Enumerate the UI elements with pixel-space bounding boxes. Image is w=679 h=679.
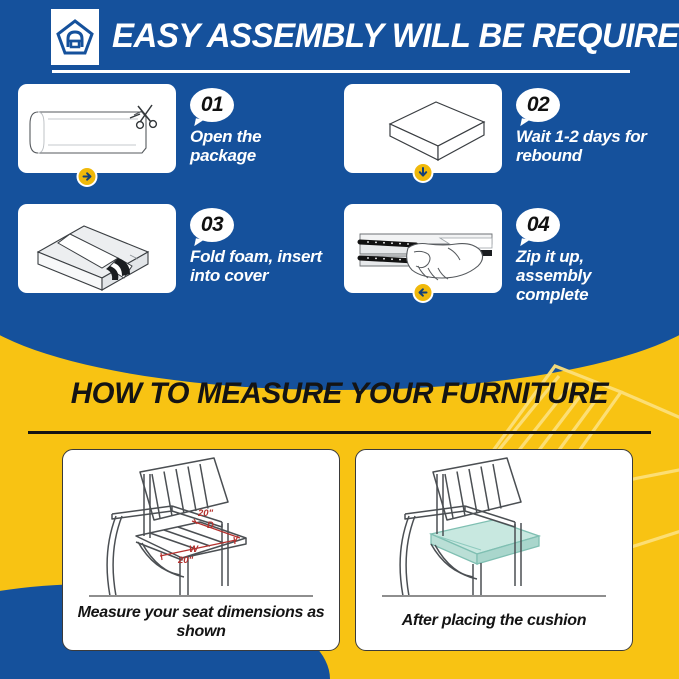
foam-slab-icon (344, 84, 502, 173)
chair-with-dimensions-icon: 20" D W 20" (76, 450, 326, 595)
arrow-left-icon-04 (413, 282, 434, 303)
chair-with-cushion-icon (369, 450, 619, 595)
step-card-art-03 (18, 204, 176, 293)
step-item-04: 04 Zip it up, assembly complete (330, 204, 660, 304)
step-row-1: 01 Open the package 02 (0, 84, 679, 173)
step-text-01: 01 Open the package (190, 84, 330, 165)
measure-card-caption-2: After placing the cushion (356, 603, 632, 630)
step-number-badge-01: 01 (190, 88, 234, 122)
step-text-03: 03 Fold foam, insert into cover (190, 204, 330, 285)
step-text-02: 02 Wait 1-2 days for rebound (516, 84, 660, 165)
step-number-badge-02: 02 (516, 88, 560, 122)
step-row-2: 03 Fold foam, insert into cover (0, 204, 679, 304)
arrow-down-icon-02 (413, 162, 434, 183)
measure-card-divider-1 (89, 595, 313, 597)
measure-section-title: HOW TO MEASURE YOUR FURNITURE (7, 377, 672, 411)
depth-value-label: 20" (197, 508, 214, 519)
step-card-art-01 (18, 84, 176, 173)
step-number-badge-04: 04 (516, 208, 560, 242)
infographic-page: EASY ASSEMBLY WILL BE REQUIRED (0, 0, 679, 679)
step-item-03: 03 Fold foam, insert into cover (0, 204, 330, 304)
measure-card-dimensions: 20" D W 20" Measure your seat dimensions… (62, 449, 340, 651)
width-value-label: 20" (177, 555, 194, 566)
header: EASY ASSEMBLY WILL BE REQUIRED (0, 0, 679, 78)
measure-card-caption-1: Measure your seat dimensions as shown (63, 603, 339, 641)
step-item-01: 01 Open the package (0, 84, 330, 173)
width-letter-label: W (189, 544, 199, 555)
assembly-steps: 01 Open the package 02 (0, 84, 679, 304)
house-pentagon-logo-icon (51, 9, 99, 65)
header-divider (52, 70, 630, 73)
arrow-right-icon-step-01 (77, 166, 98, 187)
package-with-scissors-icon (18, 84, 176, 173)
chair-with-dimensions-art: 20" D W 20" (63, 450, 339, 595)
step-label-01: Open the package (190, 127, 330, 165)
step-number-badge-03: 03 (190, 208, 234, 242)
measure-card-cushion: After placing the cushion (355, 449, 633, 651)
step-label-03: Fold foam, insert into cover (190, 247, 330, 285)
measure-section-divider (28, 431, 651, 434)
hand-zipping-icon (344, 204, 502, 293)
measure-cards: 20" D W 20" Measure your seat dimensions… (0, 449, 679, 679)
step-label-04: Zip it up, assembly complete (516, 247, 660, 304)
step-text-04: 04 Zip it up, assembly complete (516, 204, 660, 304)
step-card-art-04 (344, 204, 502, 293)
page-title: EASY ASSEMBLY WILL BE REQUIRED (112, 12, 679, 60)
measure-card-divider-2 (382, 595, 606, 597)
depth-letter-label: D (207, 520, 214, 531)
step-card-art-02 (344, 84, 502, 173)
fold-foam-into-cover-icon (18, 204, 176, 293)
step-label-02: Wait 1-2 days for rebound (516, 127, 660, 165)
step-item-02: 02 Wait 1-2 days for rebound (330, 84, 660, 173)
chair-with-cushion-art (356, 450, 632, 595)
